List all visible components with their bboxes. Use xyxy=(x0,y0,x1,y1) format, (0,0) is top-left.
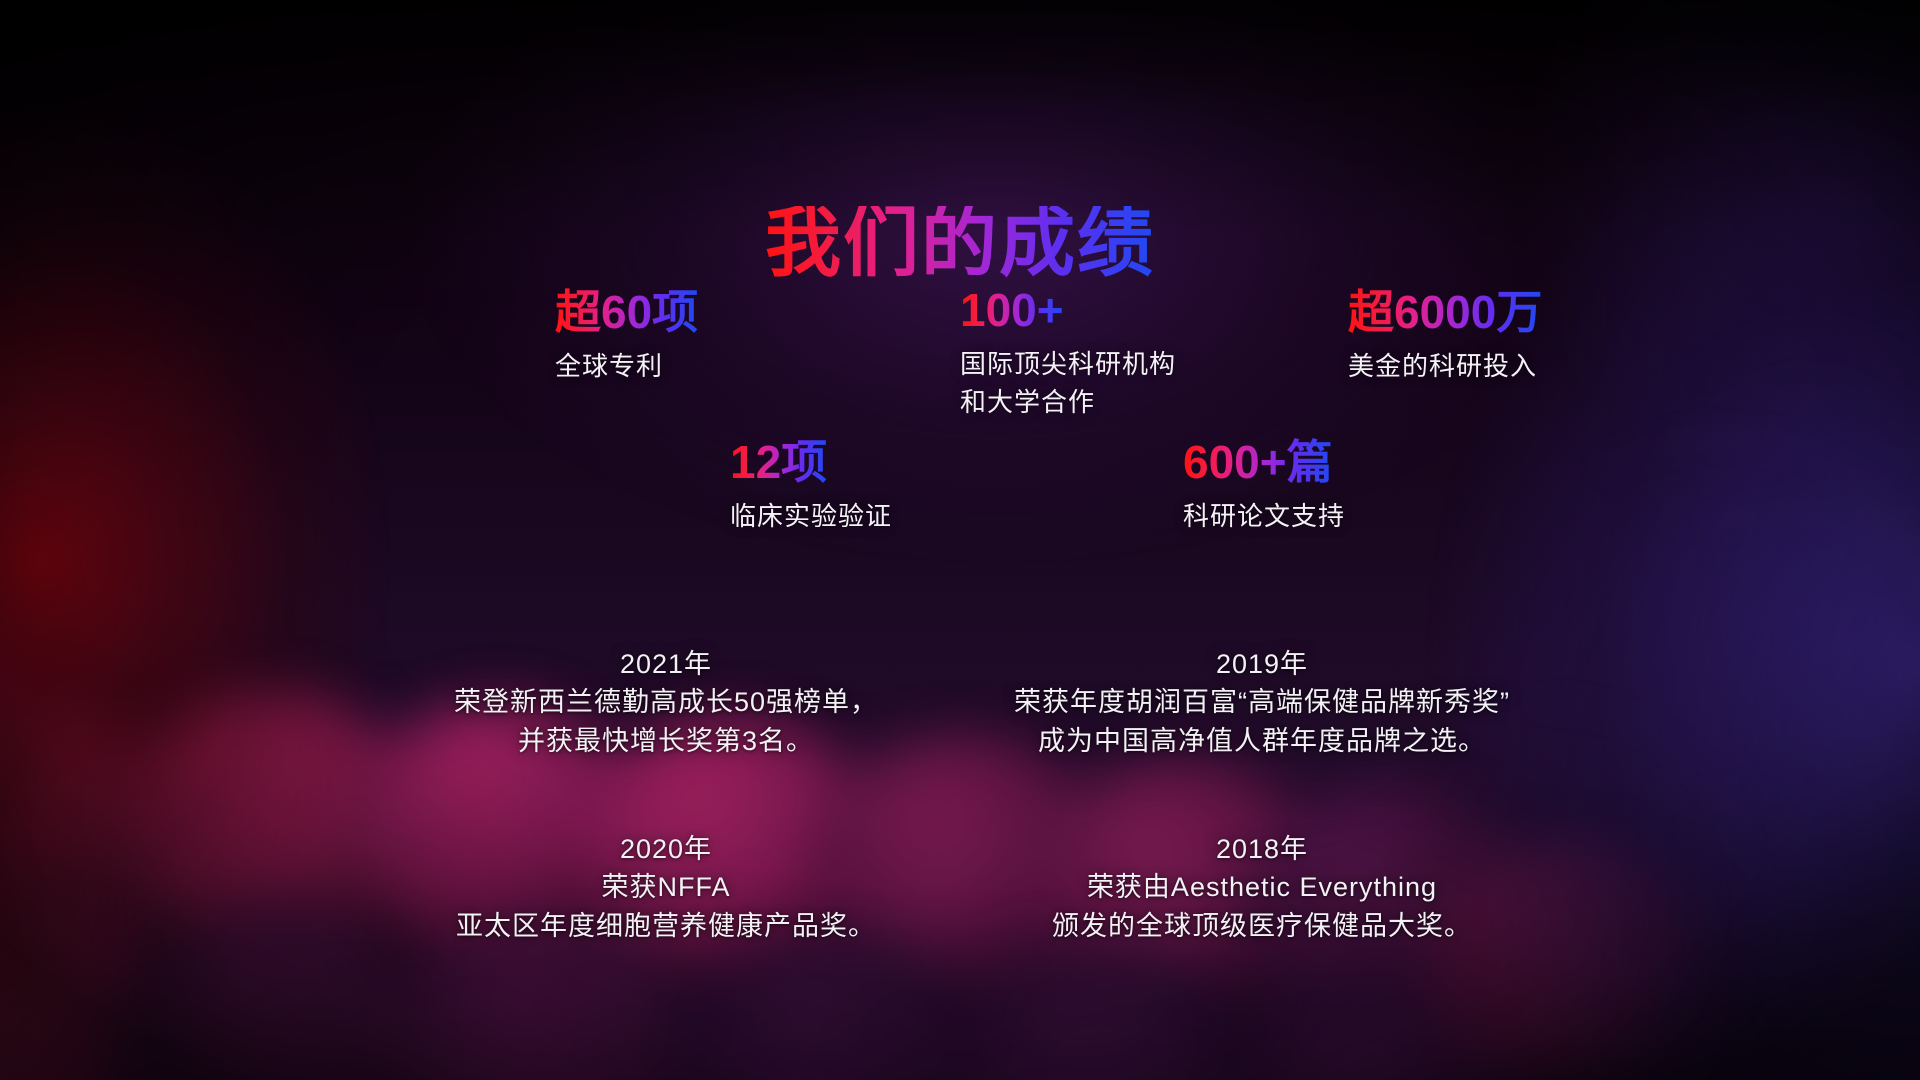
award-line: 亚太区年度细胞营养健康产品奖。 xyxy=(456,907,876,945)
award-line: 成为中国高净值人群年度品牌之选。 xyxy=(1014,722,1510,760)
award-item-2019: 2019年 荣获年度胡润百富“高端保健品牌新秀奖” 成为中国高净值人群年度品牌之… xyxy=(1262,645,1758,760)
award-line: 荣获年度胡润百富“高端保健品牌新秀奖” xyxy=(1014,683,1510,721)
page-title-text: 我们的成绩 xyxy=(765,206,1155,282)
award-item-2018: 2018年 荣获由Aesthetic Everything 颁发的全球顶级医疗保… xyxy=(1262,830,1682,945)
award-line: 荣登新西兰德勤高成长50强榜单， xyxy=(454,683,878,721)
award-line: 并获最快增长奖第3名。 xyxy=(454,722,878,760)
award-year: 2019年 xyxy=(1014,645,1510,683)
award-item-2020: 2020年 荣获NFFA 亚太区年度细胞营养健康产品奖。 xyxy=(666,830,1086,945)
slide-content: 我们的成绩 超60项 全球专利 100+ 国际顶尖科研机构 和大学合 xyxy=(0,0,1920,1080)
award-line: 颁发的全球顶级医疗保健品大奖。 xyxy=(1052,907,1472,945)
award-line: 荣获由Aesthetic Everything xyxy=(1052,868,1472,906)
award-year: 2020年 xyxy=(456,830,876,868)
award-year: 2021年 xyxy=(454,645,878,683)
award-line: 荣获NFFA xyxy=(456,868,876,906)
award-year: 2018年 xyxy=(1052,830,1472,868)
slide-canvas: 我们的成绩 超60项 全球专利 100+ 国际顶尖科研机构 和大学合 xyxy=(0,0,1920,1080)
page-title: 我们的成绩 xyxy=(0,206,1920,282)
